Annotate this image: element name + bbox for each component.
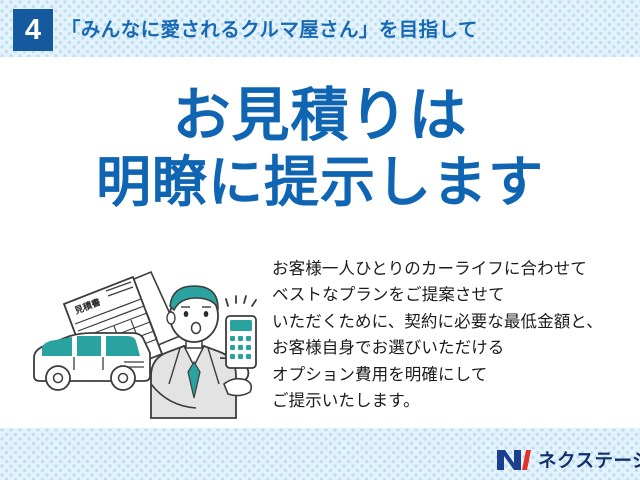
headline-line-2: 明瞭に提示します xyxy=(0,150,640,214)
body-copy-line: お客様一人ひとりのカーライフに合わせて xyxy=(272,256,622,282)
header-title: 「みんなに愛されるクルマ屋さん」を目指して xyxy=(61,13,478,42)
body-copy: お客様一人ひとりのカーライフに合わせて ベストなプランをご提案させて いただくた… xyxy=(272,256,622,414)
headline: お見積りは 明瞭に提示します xyxy=(0,84,640,214)
nextstage-logo-text: ネクステージ xyxy=(538,447,640,473)
body-copy-line: ベストなプランをご提案させて xyxy=(272,282,622,308)
body-copy-line: オプション費用を明確にして xyxy=(272,362,622,388)
body-copy-line: お客様自身でお選びいただける xyxy=(272,335,622,361)
calculator-icon xyxy=(226,316,256,368)
body-copy-line: いただくために、契約に必要な最低金額と、 xyxy=(272,309,622,335)
nextstage-logo-mark xyxy=(497,448,531,472)
sparkle-icon xyxy=(226,296,256,306)
illustration-salesman-with-quote: 見積書 xyxy=(28,258,268,423)
nextstage-logo: ネクステージ xyxy=(497,446,640,474)
promo-slide: 4 「みんなに愛されるクルマ屋さん」を目指して お見積りは 明瞭に提示します お… xyxy=(0,0,640,480)
section-number-badge: 4 xyxy=(13,9,53,51)
body-copy-line: ご提示いたします。 xyxy=(272,388,622,414)
van-illustration xyxy=(34,333,150,390)
headline-line-1: お見積りは xyxy=(0,84,640,148)
